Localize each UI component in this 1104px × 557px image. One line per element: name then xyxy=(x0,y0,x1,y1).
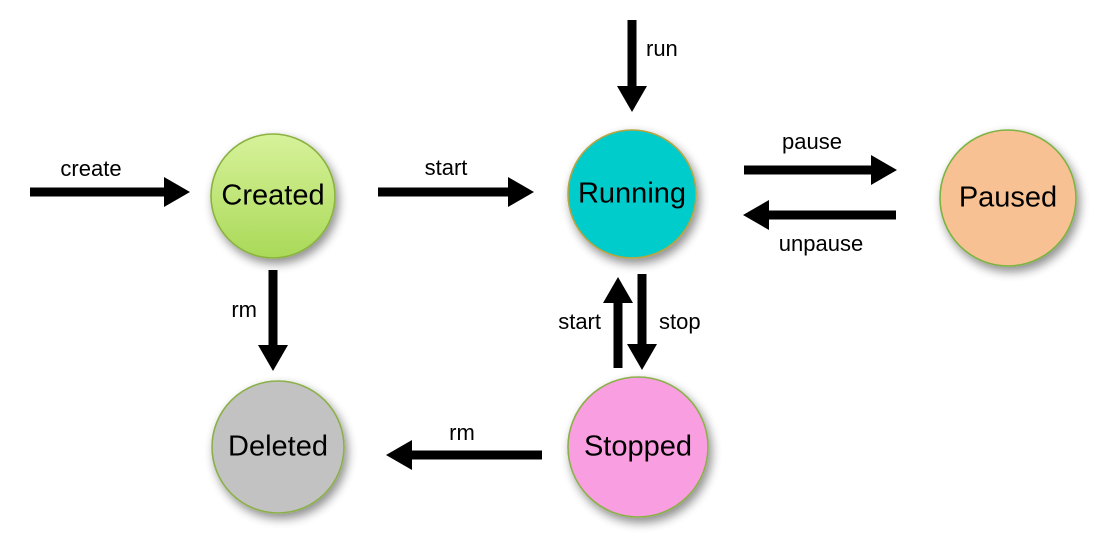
state-label-paused: Paused xyxy=(959,182,1057,214)
edge-label-stop: stop xyxy=(659,309,701,334)
edge-label-run: run xyxy=(646,36,678,61)
state-node-paused[interactable]: Paused xyxy=(940,130,1076,266)
state-node-stopped[interactable]: Stopped xyxy=(568,377,708,517)
arrow-head-icon xyxy=(258,345,288,371)
edge-label-create: create xyxy=(60,156,121,181)
arrow-head-icon xyxy=(871,155,897,185)
state-node-deleted[interactable]: Deleted xyxy=(212,381,344,513)
arrow-head-icon xyxy=(743,200,769,230)
state-diagram-svg: createstartrunpauseunpausermstartstoprm … xyxy=(0,0,1104,557)
edge-run: run xyxy=(617,20,678,112)
arrow-head-icon xyxy=(386,440,412,470)
edge-unpause: unpause xyxy=(743,200,896,256)
state-label-stopped: Stopped xyxy=(584,431,692,463)
state-node-running[interactable]: Running xyxy=(568,130,696,258)
state-label-running: Running xyxy=(578,178,686,210)
state-diagram-canvas: createstartrunpauseunpausermstartstoprm … xyxy=(0,0,1104,557)
arrow-head-icon xyxy=(617,86,647,112)
edge-start-created-running: start xyxy=(378,155,534,207)
edge-start-stopped-running: start xyxy=(558,277,633,368)
arrow-head-icon xyxy=(603,277,633,303)
edges-layer: createstartrunpauseunpausermstartstoprm xyxy=(30,20,897,470)
arrow-head-icon xyxy=(508,177,534,207)
edge-create: create xyxy=(30,156,190,207)
edge-label-start-stopped-running: start xyxy=(558,309,601,334)
edge-label-unpause: unpause xyxy=(779,231,863,256)
edge-label-rm-stopped-deleted: rm xyxy=(449,420,475,445)
arrow-head-icon xyxy=(627,344,657,370)
edge-stop: stop xyxy=(627,274,701,370)
edge-pause: pause xyxy=(744,129,897,185)
edge-label-rm-created-deleted: rm xyxy=(231,297,257,322)
state-label-deleted: Deleted xyxy=(228,431,328,463)
edge-label-start-created-running: start xyxy=(425,155,468,180)
edge-rm-created-deleted: rm xyxy=(231,270,288,371)
edge-rm-stopped-deleted: rm xyxy=(386,420,542,470)
state-label-created: Created xyxy=(221,180,324,212)
edge-label-pause: pause xyxy=(782,129,842,154)
arrow-head-icon xyxy=(164,177,190,207)
state-node-created[interactable]: Created xyxy=(211,134,335,258)
